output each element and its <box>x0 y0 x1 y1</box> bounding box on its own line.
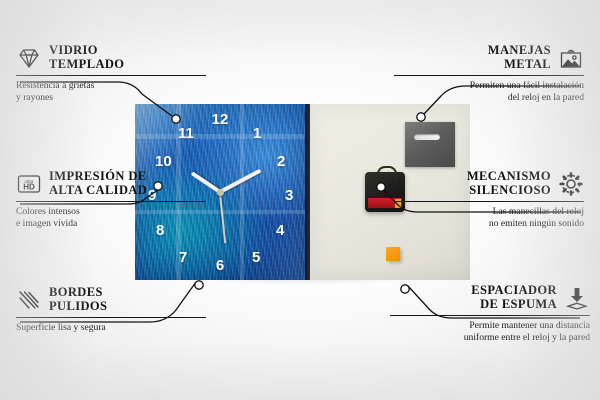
callout-bordes-pulidos[interactable]: BORDES PULIDOS Superficie lisa y segura <box>16 286 206 334</box>
clock-numeral-7: 7 <box>179 250 187 265</box>
callout-title: MANEJAS METAL <box>488 44 551 71</box>
callout-header: BORDES PULIDOS <box>16 286 206 313</box>
callout-header: MECANISMO SILENCIOSO <box>394 170 584 197</box>
callout-description: Resistencia a grietas y rayones <box>16 80 206 103</box>
callout-title: BORDES PULIDOS <box>49 286 107 313</box>
callout-description: Superficie lisa y segura <box>16 322 206 334</box>
foam-spacer-arrow-icon <box>564 285 590 311</box>
diamond-icon <box>16 45 42 71</box>
foam-spacer <box>386 247 400 261</box>
callout-title: IMPRESIÓN DE ALTA CALIDAD <box>49 170 147 197</box>
callout-description: Las manecillas del reloj no emiten ningú… <box>394 206 584 229</box>
callout-header: MANEJAS METAL <box>394 44 584 71</box>
callout-manejas-metal[interactable]: MANEJAS METAL Permiten una fácil instala… <box>394 44 584 104</box>
callout-title: MECANISMO SILENCIOSO <box>467 170 551 197</box>
callout-description: Permite mantener una distancia uniforme … <box>390 320 590 343</box>
clock-center-cap <box>217 189 224 196</box>
callout-divider <box>16 201 206 202</box>
callout-title: ESPACIADOR DE ESPUMA <box>471 284 557 311</box>
callout-divider <box>16 317 206 318</box>
wall-hanger-frame-icon <box>558 45 584 71</box>
callout-mecanismo-silencioso[interactable]: MECANISMO SILENCIOSO Las manecillas del … <box>394 170 584 230</box>
infographic-canvas: 12 1 2 3 4 5 6 7 8 9 10 11 <box>0 0 600 400</box>
callout-impresion-alta-calidad[interactable]: ultra HD IMPRESIÓN DE ALTA CALIDAD Color… <box>16 170 206 230</box>
callout-divider <box>394 201 584 202</box>
clock-numeral-3: 3 <box>285 188 293 203</box>
callout-espaciador-espuma[interactable]: ESPACIADOR DE ESPUMA Permite mantener un… <box>390 284 590 344</box>
callout-divider <box>394 75 584 76</box>
metal-hanger-plate <box>405 122 455 167</box>
clock-numeral-12: 12 <box>212 112 229 127</box>
callout-divider <box>16 75 206 76</box>
ultra-hd-icon: ultra HD <box>16 171 42 197</box>
callout-title: VIDRIO TEMPLADO <box>49 44 124 71</box>
clock-numeral-11: 11 <box>178 126 194 141</box>
callout-description: Colores intensos e imagen vívida <box>16 206 206 229</box>
svg-text:HD: HD <box>23 182 35 191</box>
callout-divider <box>390 315 590 316</box>
clock-numeral-10: 10 <box>155 154 172 169</box>
clock-numeral-5: 5 <box>252 250 260 265</box>
gear-icon <box>558 171 584 197</box>
clock-numeral-4: 4 <box>276 223 284 238</box>
callout-description: Permiten una fácil instalación del reloj… <box>394 80 584 103</box>
hanger-slot <box>414 134 440 140</box>
beveled-edge-icon <box>16 287 42 313</box>
clock-numeral-1: 1 <box>253 126 261 141</box>
callout-vidrio-templado[interactable]: VIDRIO TEMPLADO Resistencia a grietas y … <box>16 44 206 104</box>
callout-header: ESPACIADOR DE ESPUMA <box>390 284 590 311</box>
callout-header: VIDRIO TEMPLADO <box>16 44 206 71</box>
callout-header: ultra HD IMPRESIÓN DE ALTA CALIDAD <box>16 170 206 197</box>
clock-numeral-6: 6 <box>216 258 224 273</box>
clock-numeral-2: 2 <box>277 154 285 169</box>
